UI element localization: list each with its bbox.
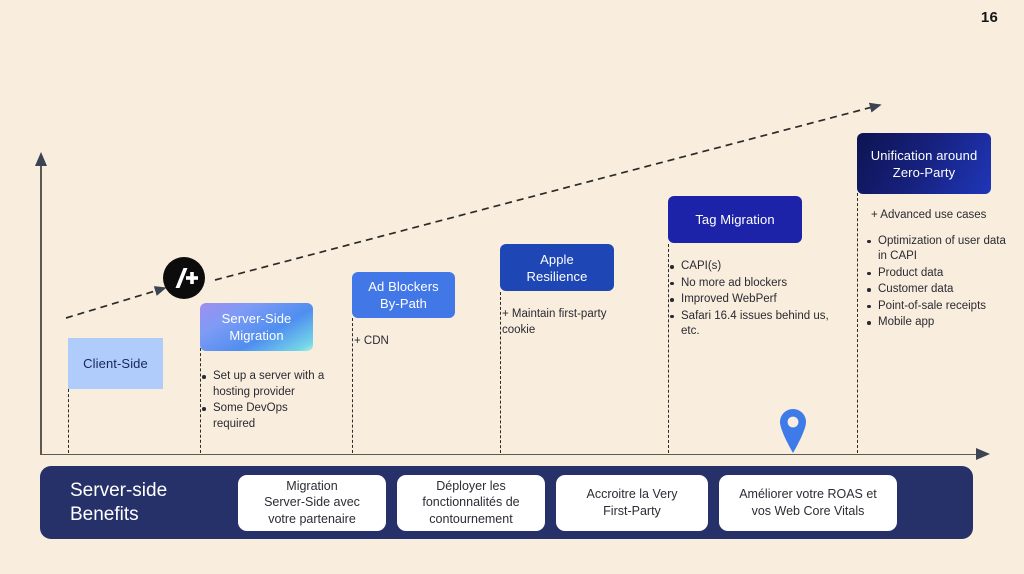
stage-plus-note-unification-zero-party: + Advanced use cases — [857, 208, 1017, 224]
brand-logo-badge — [163, 257, 205, 299]
trend-arrow-segment-left — [66, 288, 165, 318]
stage-bullet-list-tag-migration: CAPI(s) No more ad blockers Improved Web… — [668, 259, 833, 340]
stage-notes-ad-blockers: + CDN — [352, 334, 472, 350]
addingwell-logo-icon — [163, 257, 205, 299]
stage-title-box-ad-blockers[interactable]: Ad Blockers By-Path — [352, 272, 455, 318]
stage-title-box-apple-resilience[interactable]: Apple Resilience — [500, 244, 614, 291]
stage-server-side-migration[interactable]: Server-Side Migration Set up a server wi… — [200, 303, 348, 433]
benefit-card-ameliorer-roas[interactable]: Améliorer votre ROAS et vos Web Core Vit… — [719, 475, 897, 531]
benefit-card-deployer-contournement[interactable]: Déployer les fonctionnalités de contourn… — [397, 475, 545, 531]
stage-title-box-client-side[interactable]: Client-Side — [68, 338, 163, 389]
list-item: Product data — [865, 266, 1017, 282]
slide-canvas: 16 Client-Side Server-Side Migration — [0, 0, 1024, 574]
stage-title-box-tag-migration[interactable]: Tag Migration — [668, 196, 802, 243]
stage-unification-zero-party[interactable]: Unification around Zero-Party + Advanced… — [857, 133, 1022, 332]
benefit-card-migration-server-side[interactable]: Migration Server-Side avec votre partena… — [238, 475, 386, 531]
stage-tag-migration[interactable]: Tag Migration CAPI(s) No more ad blocker… — [668, 196, 854, 341]
stage-notes-server-side-migration: Set up a server with a hosting provider … — [200, 369, 325, 432]
stage-ad-blockers[interactable]: Ad Blockers By-Path + CDN — [352, 272, 497, 360]
benefits-bar: Server-side Benefits Migration Server-Si… — [40, 466, 973, 539]
stage-client-side[interactable]: Client-Side — [68, 338, 196, 389]
stage-bullet-list-server-side-migration: Set up a server with a hosting provider … — [200, 369, 325, 432]
list-item: Safari 16.4 issues behind us, etc. — [668, 309, 833, 340]
stage-notes-apple-resilience: + Maintain first-party cookie — [500, 307, 628, 338]
list-item: Set up a server with a hosting provider — [200, 369, 325, 400]
x-axis-line — [40, 454, 980, 456]
benefits-title: Server-side Benefits — [50, 479, 238, 527]
stage-plus-note-apple-resilience: + Maintain first-party cookie — [500, 307, 628, 338]
list-item: Improved WebPerf — [668, 292, 833, 308]
stage-title-box-unification-zero-party[interactable]: Unification around Zero-Party — [857, 133, 991, 194]
column-divider-1 — [68, 389, 69, 453]
map-pin-icon — [779, 408, 807, 454]
list-item: Customer data — [865, 282, 1017, 298]
y-axis-arrow-icon — [35, 152, 47, 166]
list-item: Optimization of user data in CAPI — [865, 234, 1017, 265]
current-position-pin[interactable] — [779, 408, 807, 454]
stage-title-box-server-side-migration[interactable]: Server-Side Migration — [200, 303, 313, 351]
benefit-card-accroitre-very-first-party[interactable]: Accroitre la Very First-Party — [556, 475, 708, 531]
stage-notes-tag-migration: CAPI(s) No more ad blockers Improved Web… — [668, 259, 833, 340]
y-axis-line — [40, 165, 42, 455]
stage-notes-unification-zero-party: + Advanced use cases Optimization of use… — [857, 208, 1017, 331]
stage-bullet-list-unification-zero-party: Optimization of user data in CAPI Produc… — [857, 234, 1017, 331]
list-item: CAPI(s) — [668, 259, 833, 275]
list-item: Some DevOps required — [200, 401, 325, 432]
list-item: No more ad blockers — [668, 276, 833, 292]
page-number: 16 — [981, 9, 998, 26]
x-axis-arrow-icon — [976, 448, 990, 460]
list-item: Mobile app — [865, 315, 1017, 331]
list-item: Point-of-sale receipts — [865, 299, 1017, 315]
stage-apple-resilience[interactable]: Apple Resilience + Maintain first-party … — [500, 244, 665, 348]
stage-plus-note-ad-blockers: + CDN — [352, 334, 472, 350]
